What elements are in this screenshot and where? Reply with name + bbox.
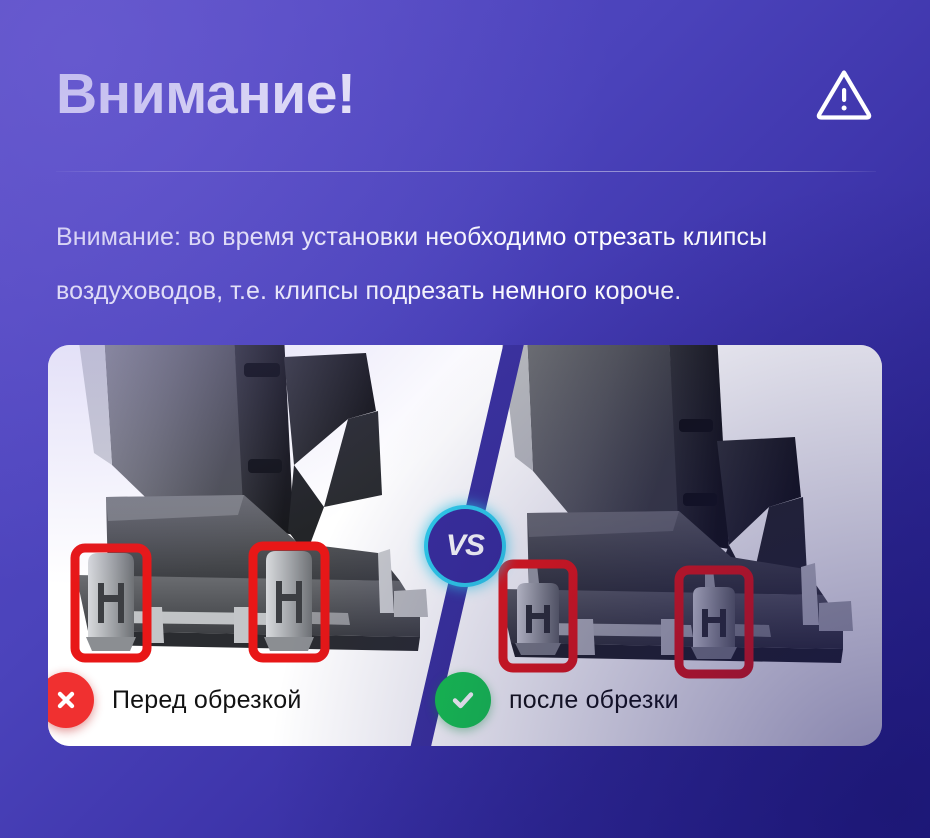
poster-background: Внимание! Внимание: во время установки н…	[0, 0, 930, 838]
comparison-labels: Перед обрезкой после обрезки	[48, 660, 882, 746]
cross-circle-icon	[48, 672, 94, 728]
comparison-card: VS Перед обрезкой после обрезки	[48, 345, 882, 746]
after-label-text: после обрезки	[509, 686, 679, 715]
vs-label: VS	[446, 529, 484, 563]
vs-badge: VS	[428, 509, 502, 583]
page-title: Внимание!	[56, 58, 355, 130]
check-circle-icon	[435, 672, 491, 728]
after-label-group: после обрезки	[435, 672, 679, 728]
before-label-text: Перед обрезкой	[112, 686, 302, 715]
header-divider	[56, 171, 876, 172]
header: Внимание!	[0, 0, 930, 172]
intro-text: Внимание: во время установки необходимо …	[56, 210, 886, 318]
warning-triangle-icon	[813, 64, 875, 126]
before-label-group: Перед обрезкой	[48, 672, 302, 728]
